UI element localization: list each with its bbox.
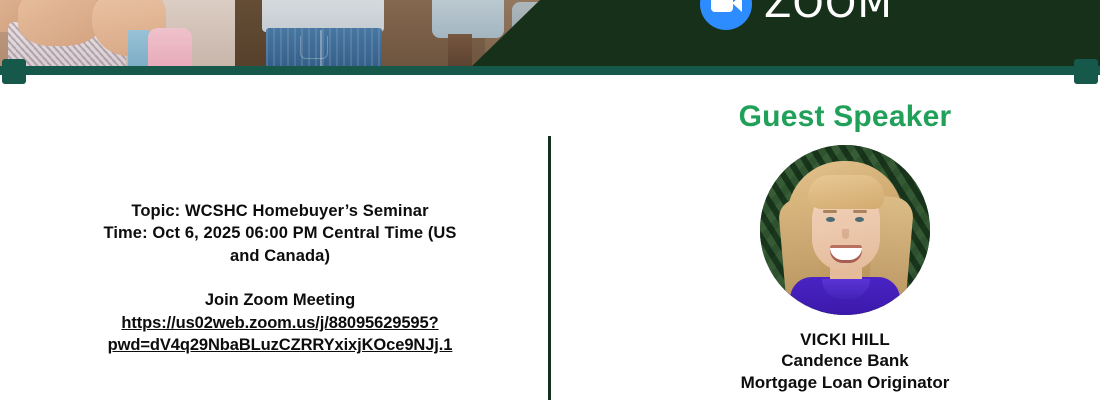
guest-speaker-heading: Guest Speaker [610, 100, 1080, 133]
meeting-topic: Topic: WCSHC Homebuyer’s Seminar [30, 200, 530, 222]
column-divider [548, 136, 551, 400]
avatar-nose [842, 229, 849, 239]
photo-backdrop-mid [120, 0, 235, 68]
spacer [30, 267, 530, 289]
photo-person-two-jeans [266, 28, 382, 68]
meeting-details-column: Topic: WCSHC Homebuyer’s Seminar Time: O… [30, 200, 530, 357]
photo-person-two-shirt [262, 0, 384, 32]
photo-doorframe [235, 0, 355, 68]
join-zoom-meeting-label: Join Zoom Meeting [30, 289, 530, 311]
meeting-time-line-1: Time: Oct 6, 2025 06:00 PM Central Time … [30, 222, 530, 244]
photo-backdrop-right [355, 0, 485, 68]
avatar-eyebrow-left [823, 210, 837, 213]
avatar-eye-right [855, 217, 864, 222]
zoom-meeting-link-line-2[interactable]: pwd=dV4q29NbaBLuzCZRRYxixjKOce9NJj.1 [30, 334, 530, 356]
photo-child-pink-shirt [148, 28, 192, 68]
top-banner: ZOOM [0, 0, 1100, 68]
photo-person-one-forearm [92, 0, 166, 56]
photo-person-three-skirt [432, 0, 504, 38]
zoom-logo-lockup: ZOOM [700, 0, 893, 30]
zoom-video-camera-icon [700, 0, 752, 30]
zoom-meeting-link-line-1[interactable]: https://us02web.zoom.us/j/88095629595? [30, 312, 530, 334]
flyer-canvas: ZOOM Topic: WCSHC Homebuyer’s Seminar Ti… [0, 0, 1100, 400]
meeting-time-line-2: and Canada) [30, 245, 530, 267]
zoom-camera-lens [732, 0, 742, 12]
photo-person-one-blue-strap [128, 30, 150, 68]
avatar-eyebrow-right [853, 210, 867, 213]
avatar-eye-left [826, 217, 835, 222]
photo-person-three-leg [448, 34, 472, 68]
guest-speaker-column: Guest Speaker VICKI HILL Candence Bank M… [610, 100, 1080, 393]
speaker-avatar [760, 145, 930, 315]
photo-person-two-jeans-pocket [300, 36, 328, 59]
photo-person-one-arm [18, 0, 104, 46]
rule-end-cap-left [2, 59, 26, 84]
photo-backdrop-left [0, 0, 120, 68]
avatar-bangs [808, 175, 884, 209]
speaker-name: VICKI HILL [610, 329, 1080, 350]
horizontal-rule [0, 66, 1100, 75]
speaker-organization: Candence Bank [610, 350, 1080, 371]
speaker-role: Mortgage Loan Originator [610, 372, 1080, 393]
zoom-camera-body [711, 0, 733, 12]
zoom-wordmark: ZOOM [764, 0, 893, 24]
photo-person-two-jeans-seam [320, 30, 322, 68]
rule-end-cap-right [1074, 59, 1098, 84]
photo-person-one-shoulder [0, 0, 60, 32]
